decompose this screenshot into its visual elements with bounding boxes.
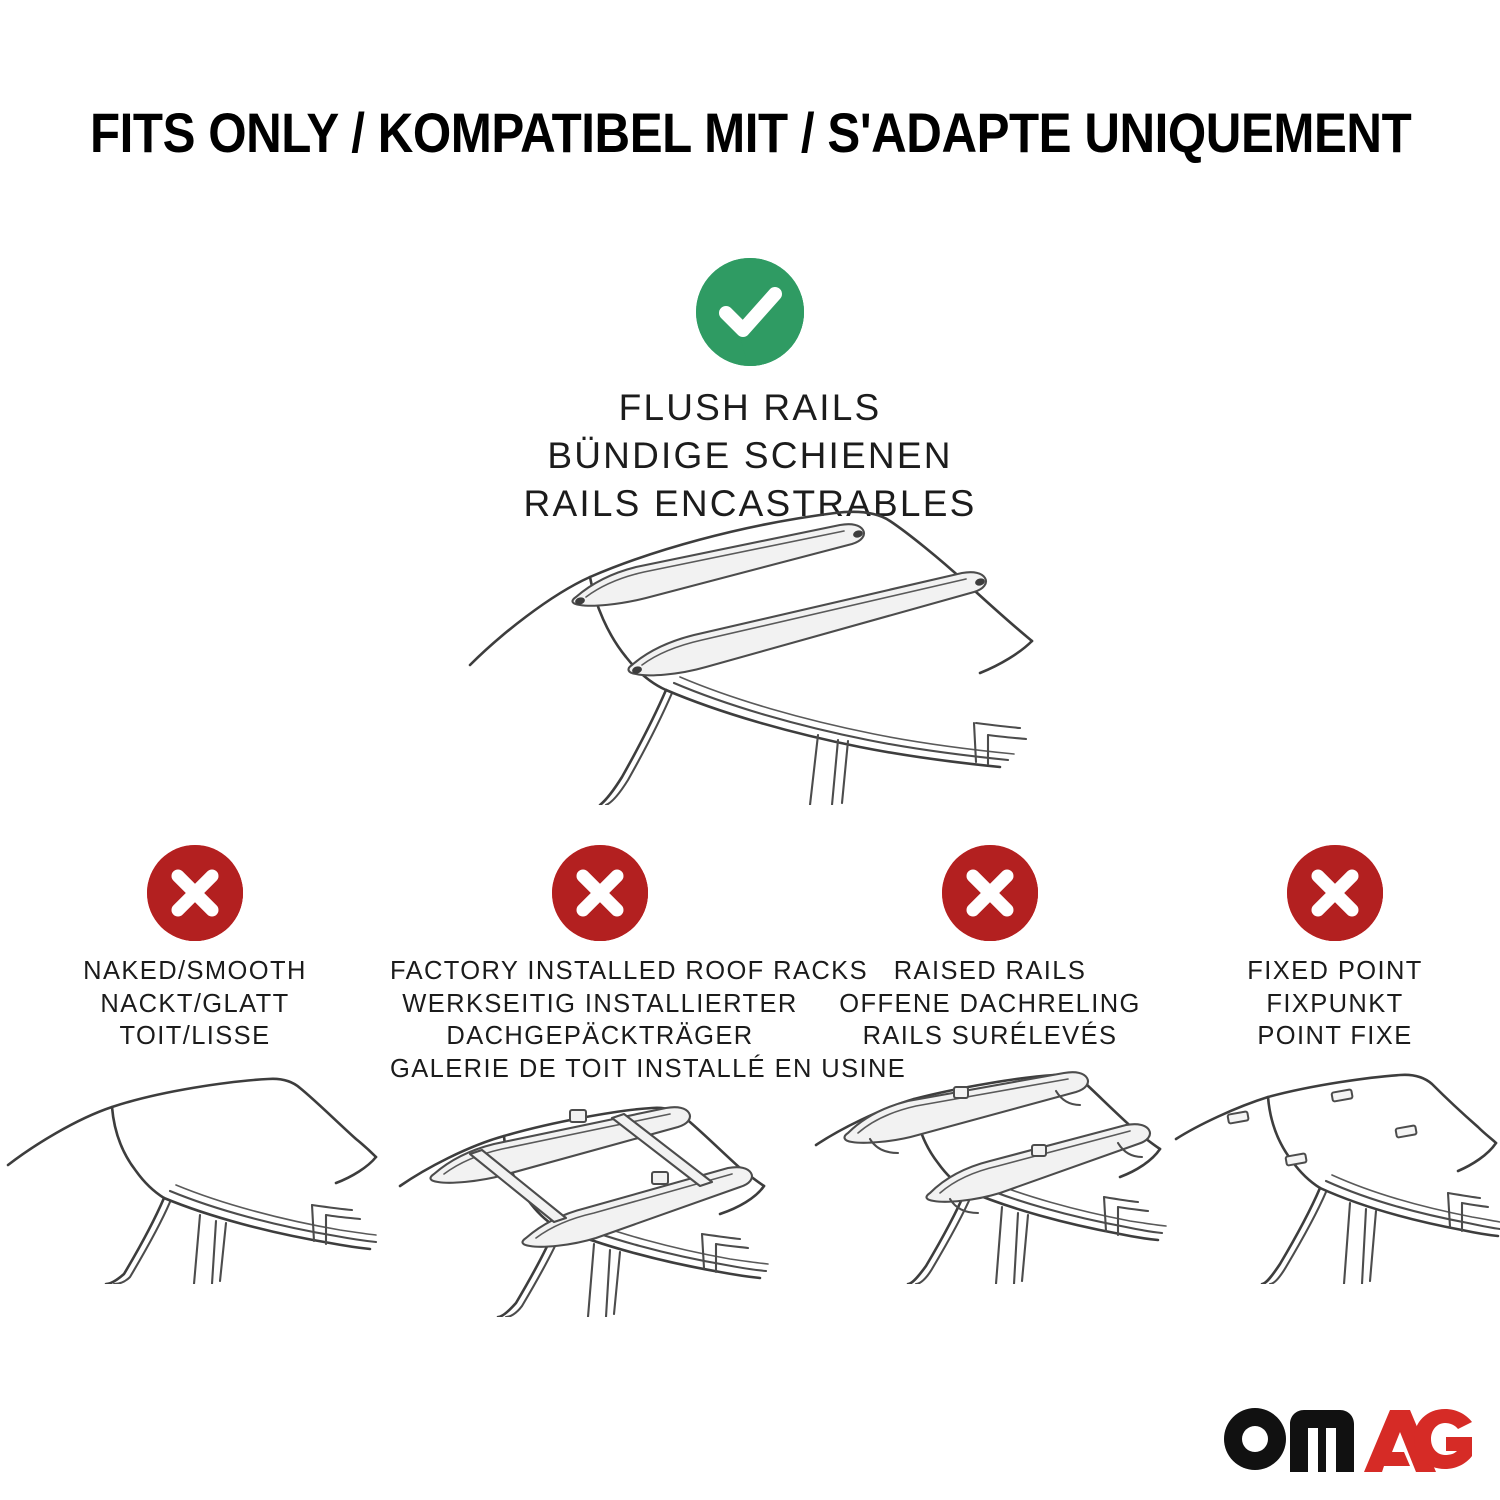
checkmark-glyph — [696, 258, 804, 366]
car-roof-raised-rails-diagram — [810, 1069, 1170, 1284]
incompatible-labels: FACTORY INSTALLED ROOF RACKS WERKSEITIG … — [390, 955, 810, 1086]
incompatible-item-fixed-point: FIXED POINT FIXPUNKT POINT FIXE — [1170, 845, 1500, 1284]
x-glyph — [552, 845, 648, 941]
compatible-label-en: FLUSH RAILS — [250, 384, 1250, 432]
omac-logo — [1224, 1406, 1472, 1472]
page-title: FITS ONLY / KOMPATIBEL MIT / S'ADAPTE UN… — [90, 104, 1410, 163]
x-glyph — [1287, 845, 1383, 941]
label-line-fr: RAILS SURÉLEVÉS — [810, 1020, 1170, 1053]
incompatible-item-raised-rails: RAISED RAILS OFFENE DACHRELING RAILS SUR… — [810, 845, 1170, 1284]
label-line-de: OFFENE DACHRELING — [810, 988, 1170, 1021]
red-x-circle-icon — [1287, 845, 1383, 941]
label-line-de-1: WERKSEITIG INSTALLIERTER — [390, 988, 810, 1021]
label-line-fr: TOIT/LISSE — [0, 1020, 390, 1053]
label-line-en: FIXED POINT — [1170, 955, 1500, 988]
car-roof-factory-racks-diagram — [390, 1102, 810, 1317]
red-x-circle-icon — [552, 845, 648, 941]
x-glyph — [147, 845, 243, 941]
car-roof-naked-diagram — [0, 1069, 390, 1284]
label-line-en: FACTORY INSTALLED ROOF RACKS — [390, 955, 810, 988]
label-line-fr: POINT FIXE — [1170, 1020, 1500, 1053]
incompatible-labels: RAISED RAILS OFFENE DACHRELING RAILS SUR… — [810, 955, 1170, 1053]
green-check-circle-icon — [696, 258, 804, 366]
label-line-en: NAKED/SMOOTH — [0, 955, 390, 988]
label-line-de: NACKT/GLATT — [0, 988, 390, 1021]
incompatible-labels: NAKED/SMOOTH NACKT/GLATT TOIT/LISSE — [0, 955, 390, 1053]
car-roof-fixed-point-diagram — [1170, 1069, 1500, 1284]
x-glyph — [942, 845, 1038, 941]
incompatible-section: NAKED/SMOOTH NACKT/GLATT TOIT/LISSE — [0, 845, 1500, 1317]
incompatible-item-naked: NAKED/SMOOTH NACKT/GLATT TOIT/LISSE — [0, 845, 390, 1284]
label-line-de-2: DACHGEPÄCKTRÄGER — [390, 1020, 810, 1053]
incompatible-item-factory-racks: FACTORY INSTALLED ROOF RACKS WERKSEITIG … — [390, 845, 810, 1317]
label-line-de: FIXPUNKT — [1170, 988, 1500, 1021]
compatible-label-de: BÜNDIGE SCHIENEN — [250, 432, 1250, 480]
car-roof-flush-rails-diagram — [440, 485, 1060, 805]
red-x-circle-icon — [147, 845, 243, 941]
incompatible-labels: FIXED POINT FIXPUNKT POINT FIXE — [1170, 955, 1500, 1053]
label-line-fr: GALERIE DE TOIT INSTALLÉ EN USINE — [390, 1053, 810, 1086]
label-line-en: RAISED RAILS — [810, 955, 1170, 988]
red-x-circle-icon — [942, 845, 1038, 941]
